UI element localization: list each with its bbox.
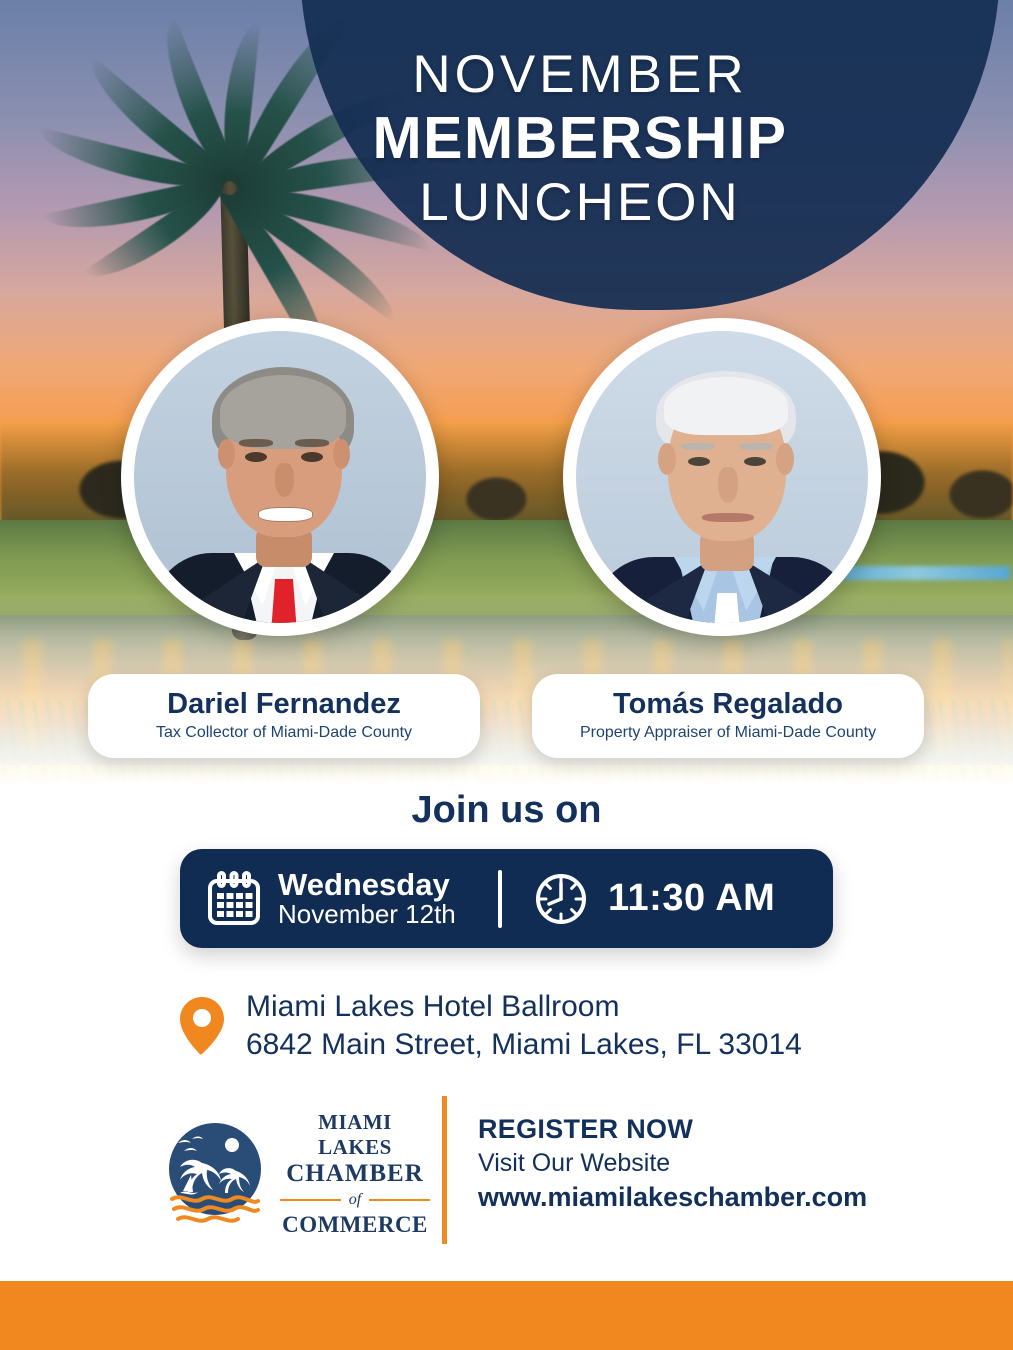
register-block: REGISTER NOW Visit Our Website www.miami… — [478, 1113, 867, 1215]
eye-left — [245, 452, 267, 462]
logo-rule-right — [369, 1199, 430, 1201]
eyebrow-left — [681, 443, 715, 450]
logo-rule-left — [280, 1199, 341, 1201]
chamber-logo-badge-icon — [160, 1119, 270, 1229]
logo-connector-row: of — [280, 1191, 430, 1209]
website-url[interactable]: www.miamilakeschamber.com — [478, 1181, 867, 1214]
logo-line-3: COMMERCE — [280, 1211, 430, 1238]
avatar — [576, 331, 868, 623]
venue-name: Miami Lakes Hotel Ballroom — [246, 990, 619, 1023]
eye-right — [744, 457, 766, 466]
us-flag-lapel-pin — [320, 617, 342, 623]
event-day: Wednesday — [278, 867, 450, 902]
speaker-portrait-1 — [121, 318, 439, 636]
speaker-name-card-1: Dariel Fernandez Tax Collector of Miami-… — [88, 674, 480, 758]
speaker-portrait-2 — [563, 318, 881, 636]
mouth — [702, 513, 754, 522]
nose — [275, 463, 294, 497]
eyebrow-left — [239, 439, 273, 447]
header-month: NOVEMBER — [300, 44, 860, 105]
ear-right — [776, 443, 794, 475]
hair-highlight — [664, 377, 788, 435]
register-headline: REGISTER NOW — [478, 1113, 867, 1146]
eye-right — [301, 452, 323, 462]
speaker-2-figure — [576, 331, 868, 623]
ear-left — [658, 443, 676, 475]
event-flyer: NOVEMBER MEMBERSHIP LUNCHEON — [0, 0, 1013, 1350]
ear-right — [333, 439, 350, 469]
location-block: Miami Lakes Hotel Ballroom 6842 Main Str… — [180, 988, 880, 1064]
chamber-logo: MIAMI LAKES CHAMBER of COMMERCE — [160, 1104, 430, 1244]
speaker-name: Dariel Fernandez — [110, 688, 458, 720]
logo-line-2: CHAMBER — [280, 1159, 430, 1189]
speaker-name-card-2: Tomás Regalado Property Appraiser of Mia… — [532, 674, 924, 758]
nose — [718, 467, 738, 503]
speaker-role: Property Appraiser of Miami-Dade County — [554, 724, 902, 742]
page-title: MEMBERSHIP — [300, 105, 860, 171]
register-subline: Visit Our Website — [478, 1148, 867, 1179]
avatar — [134, 331, 426, 623]
join-us-label: Join us on — [0, 789, 1013, 832]
eyebrow-right — [295, 439, 329, 447]
logo-connector: of — [349, 1191, 361, 1209]
eye-left — [688, 457, 710, 466]
ear-left — [218, 439, 235, 469]
eyebrow-right — [739, 443, 773, 450]
orange-vertical-divider — [442, 1096, 447, 1244]
date-text: Wednesday November 12th — [278, 869, 456, 929]
chamber-logo-wordmark: MIAMI LAKES CHAMBER of COMMERCE — [280, 1110, 430, 1238]
calendar-icon — [206, 871, 262, 927]
venue-address: 6842 Main Street, Miami Lakes, FL 33014 — [246, 1028, 802, 1061]
header-title-block: NOVEMBER MEMBERSHIP LUNCHEON — [300, 44, 860, 234]
speaker-1-figure — [134, 331, 426, 623]
location-text: Miami Lakes Hotel Ballroom 6842 Main Str… — [246, 988, 802, 1064]
date-time-bar: Wednesday November 12th — [180, 849, 833, 948]
event-date: November 12th — [278, 899, 456, 929]
date-group: Wednesday November 12th — [180, 869, 498, 929]
speaker-role: Tax Collector of Miami-Dade County — [110, 724, 458, 742]
time-group: 11:30 AM — [502, 870, 833, 928]
header-subtitle: LUNCHEON — [300, 172, 860, 235]
speaker-name: Tomás Regalado — [554, 688, 902, 720]
hair-highlight — [220, 375, 346, 449]
mouth — [258, 507, 313, 522]
event-time: 11:30 AM — [608, 877, 775, 920]
clock-icon — [532, 870, 590, 928]
orange-footer-bar — [0, 1281, 1013, 1350]
logo-line-1: MIAMI LAKES — [318, 1110, 392, 1159]
map-pin-icon — [180, 997, 224, 1055]
